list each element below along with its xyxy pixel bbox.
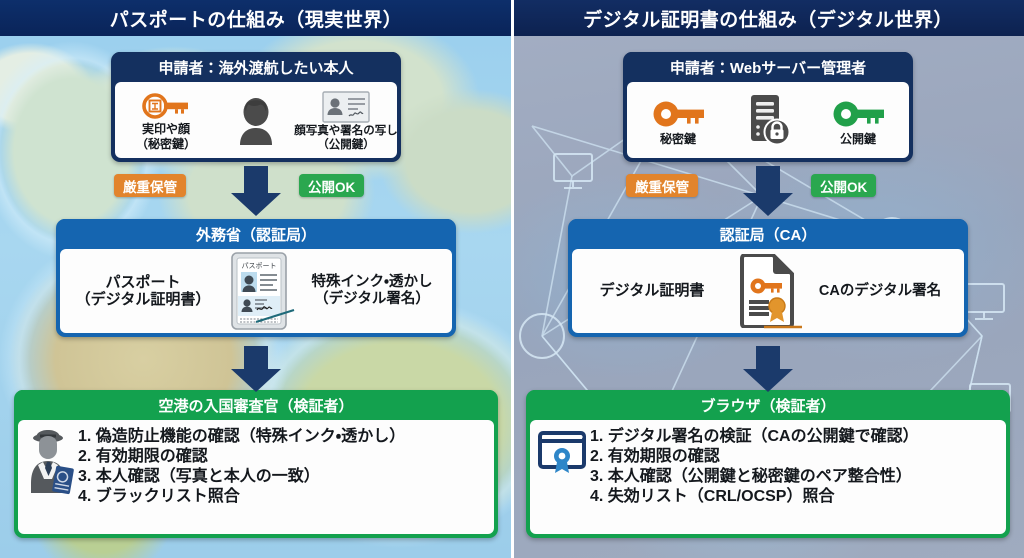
svg-text:パスポート: パスポート <box>242 262 277 270</box>
left-authority-header: 外務省（認証局） <box>60 219 452 249</box>
left-verifier-checklist: 1. 偽造防止機能の確認（特殊インク・透かし） 2. 有効期限の確認 3. 本人… <box>78 427 405 508</box>
orange-seal-key-icon <box>142 91 190 121</box>
list-item: 4. 失効リスト（CRL/OCSP）照合 <box>590 487 919 507</box>
left-public-key-label-1: 顔写真や署名の写し <box>294 125 398 137</box>
panel-digital-world: デジタル証明書の仕組み（デジタル世界） 申請者：Webサーバー管理者 <box>512 0 1024 558</box>
left-applicant-private-key: 実印や顔 （秘密鍵） <box>121 91 210 150</box>
right-arrow-applicant-to-ca <box>740 166 796 223</box>
list-item: 1. 偽造防止機能の確認（特殊インク・透かし） <box>78 427 405 447</box>
right-applicant-private-key: 秘密鍵 <box>633 97 722 146</box>
right-certificate-label: デジタル証明書 <box>572 282 732 299</box>
left-private-key-label-2: （秘密鍵） <box>136 138 196 151</box>
list-item: 2. 有効期限の確認 <box>590 447 919 467</box>
orange-key-icon <box>651 97 705 131</box>
left-authority-label-2: （デジタル証明書） <box>60 291 226 308</box>
left-callout-line <box>256 308 296 324</box>
id-card-photo-signature-icon <box>322 91 370 123</box>
right-callout-line <box>764 323 804 331</box>
server-lock-icon <box>745 94 791 146</box>
list-item: 1. デジタル署名の検証（CAの公開鍵で確認） <box>590 427 919 447</box>
left-private-key-label-1: 実印や顔 <box>142 123 190 136</box>
panel-divider <box>511 0 514 558</box>
person-silhouette-icon <box>234 96 278 146</box>
certificate-key-seal-icon <box>732 254 802 328</box>
list-item: 2. 有効期限の確認 <box>78 447 405 467</box>
browser-certificate-icon <box>538 427 590 477</box>
left-applicant-card: 申請者：海外渡航したい本人 実印や顔 （秘密鍵） <box>111 52 401 162</box>
right-applicant-header: 申請者：Webサーバー管理者 <box>627 52 909 82</box>
right-badge-strict-storage: 厳重保管 <box>626 174 698 197</box>
right-private-key-label: 秘密鍵 <box>660 133 696 146</box>
left-authority-card: 外務省（認証局） パスポート （デジタル証明書） パスポート <box>56 219 456 337</box>
panel-real-world: パスポートの仕組み（現実世界） 申請者：海外渡航したい本人 <box>0 0 512 558</box>
left-title-bar: パスポートの仕組み（現実世界） <box>0 0 512 36</box>
list-item: 3. 本人確認（写真と本人の一致） <box>78 467 405 487</box>
right-panel-title: デジタル証明書の仕組み（デジタル世界） <box>583 5 953 32</box>
left-arrow-authority-to-verifier <box>228 346 284 399</box>
left-panel-title: パスポートの仕組み（現実世界） <box>110 5 403 32</box>
diagram-root: パスポートの仕組み（現実世界） 申請者：海外渡航したい本人 <box>0 0 1024 558</box>
right-verifier-card: ブラウザ（検証者） 1. デジタル署名の検証（CAの公開鍵で <box>526 390 1010 538</box>
right-applicant-public-key: 公開鍵 <box>813 97 902 146</box>
right-applicant-server <box>723 94 812 148</box>
left-applicant-header: 申請者：海外渡航したい本人 <box>115 52 397 82</box>
right-ca-header: 認証局（CA） <box>572 219 964 249</box>
left-badge-strict-storage: 厳重保管 <box>114 174 186 197</box>
list-item: 4. ブラックリスト照合 <box>78 487 405 507</box>
left-signature-label-2: （デジタル署名） <box>292 291 452 308</box>
left-signature-label-1: 特殊インク・透かし <box>292 274 452 291</box>
right-verifier-checklist: 1. デジタル署名の検証（CAの公開鍵で確認） 2. 有効期限の確認 3. 本人… <box>590 427 919 508</box>
left-public-key-label-2: （公開鍵） <box>317 139 375 151</box>
right-arrow-ca-to-browser <box>740 346 796 399</box>
left-authority-label-1: パスポート <box>60 274 226 291</box>
immigration-officer-icon <box>26 427 78 495</box>
right-applicant-card: 申請者：Webサーバー管理者 秘密鍵 <box>623 52 913 162</box>
left-verifier-card: 空港の入国審査官（検証者） <box>14 390 498 538</box>
right-ca-signature-label: CAのデジタル署名 <box>802 283 958 300</box>
left-applicant-person <box>211 96 300 146</box>
list-item: 3. 本人確認（公開鍵と秘密鍵のペア整合性） <box>590 467 919 487</box>
left-badge-public-ok: 公開OK <box>299 174 364 197</box>
left-arrow-applicant-to-authority <box>228 166 284 223</box>
green-key-icon <box>831 97 885 131</box>
left-applicant-public-key: 顔写真や署名の写し （公開鍵） <box>301 91 390 151</box>
right-public-key-label: 公開鍵 <box>840 133 876 146</box>
right-title-bar: デジタル証明書の仕組み（デジタル世界） <box>512 0 1024 36</box>
right-ca-card: 認証局（CA） デジタル証明書 <box>568 219 968 337</box>
right-badge-public-ok: 公開OK <box>811 174 876 197</box>
